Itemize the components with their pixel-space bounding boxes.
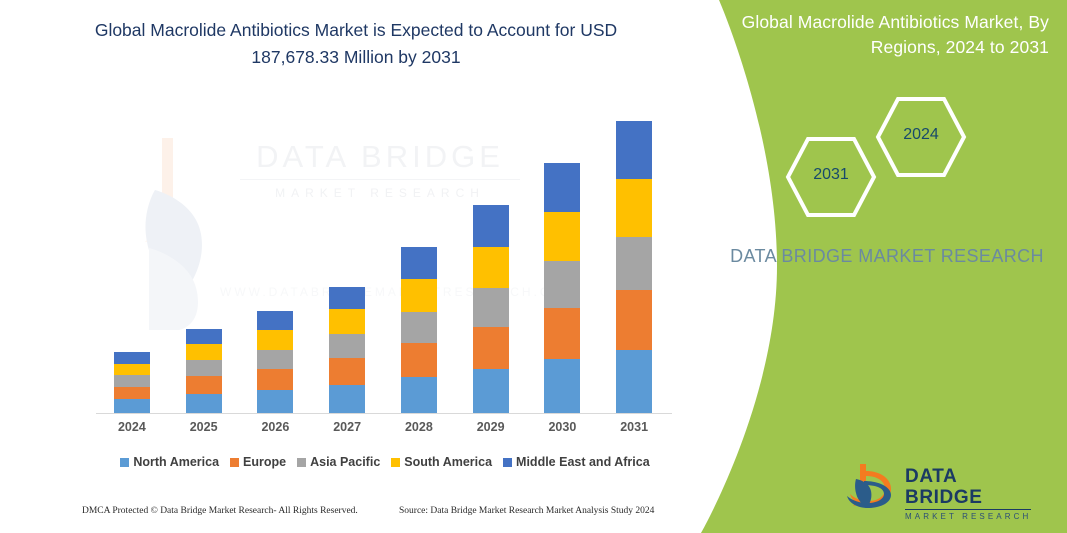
hexagon-2024: 2024 xyxy=(875,96,967,178)
bar-column-2024 xyxy=(114,352,150,413)
legend-label: Asia Pacific xyxy=(310,455,380,469)
bar-segment xyxy=(114,364,150,376)
legend-swatch-icon xyxy=(297,458,306,467)
bar-segment xyxy=(329,385,365,413)
legend-label: Europe xyxy=(243,455,286,469)
bar-segment xyxy=(401,279,437,312)
page-title: Global Macrolide Antibiotics Market is E… xyxy=(56,17,656,71)
bar-segment xyxy=(616,179,652,237)
bar-segment xyxy=(257,330,293,350)
bar-column-2029 xyxy=(473,205,509,413)
legend-swatch-icon xyxy=(391,458,400,467)
logo-title: DATA BRIDGE xyxy=(905,466,1032,508)
bar-segment xyxy=(186,376,222,394)
bar-segment xyxy=(329,287,365,309)
bar-segment xyxy=(616,121,652,179)
bar-segment xyxy=(186,360,222,376)
bar-segment xyxy=(544,261,580,307)
x-axis-tick-2028: 2028 xyxy=(389,420,449,434)
bar-segment xyxy=(114,399,150,413)
legend-swatch-icon xyxy=(120,458,129,467)
x-axis-labels: 20242025202620272028202920302031 xyxy=(96,420,670,434)
bar-segment xyxy=(544,308,580,360)
bar-column-2027 xyxy=(329,287,365,413)
legend-swatch-icon xyxy=(230,458,239,467)
bar-column-2026 xyxy=(257,311,293,413)
green-panel-shape xyxy=(667,0,1067,533)
bar-segment xyxy=(401,377,437,413)
x-axis-tick-2026: 2026 xyxy=(245,420,305,434)
bar-segment xyxy=(257,311,293,330)
footer-copyright: DMCA Protected © Data Bridge Market Rese… xyxy=(82,506,358,516)
legend-swatch-icon xyxy=(503,458,512,467)
legend-item[interactable]: Asia Pacific xyxy=(297,455,380,469)
bar-segment xyxy=(401,247,437,280)
bar-segment xyxy=(544,212,580,262)
chart-legend: North AmericaEuropeAsia PacificSouth Ame… xyxy=(96,455,674,469)
x-axis-tick-2031: 2031 xyxy=(604,420,664,434)
footer: DMCA Protected © Data Bridge Market Rese… xyxy=(0,506,712,526)
bar-segment xyxy=(329,358,365,384)
bar-segment xyxy=(257,350,293,369)
bar-column-2025 xyxy=(186,329,222,413)
hexagon-2024-label: 2024 xyxy=(875,126,967,144)
infographic-root: Global Macrolide Antibiotics Market, By … xyxy=(0,0,1067,533)
legend-label: Middle East and Africa xyxy=(516,455,650,469)
panel-title: Global Macrolide Antibiotics Market, By … xyxy=(729,10,1049,60)
bar-segment xyxy=(401,343,437,377)
bar-segment xyxy=(186,394,222,413)
hexagon-2031-label: 2031 xyxy=(785,166,877,184)
logo-wordmark: DATA BRIDGE MARKET RESEARCH xyxy=(905,466,1032,522)
bar-segment xyxy=(329,334,365,358)
hexagon-outline-icon xyxy=(875,96,967,178)
footer-source: Source: Data Bridge Market Research Mark… xyxy=(399,506,654,516)
x-axis-tick-2030: 2030 xyxy=(532,420,592,434)
chart-area: Global Macrolide Antibiotics Market is E… xyxy=(0,0,712,533)
hexagon-outline-icon xyxy=(785,136,877,218)
legend-label: North America xyxy=(133,455,219,469)
bar-segment xyxy=(616,350,652,413)
stacked-bar-chart xyxy=(96,118,670,413)
logo-tagline: MARKET RESEARCH xyxy=(905,512,1032,522)
bar-column-2031 xyxy=(616,121,652,413)
x-axis-tick-2029: 2029 xyxy=(461,420,521,434)
hexagon-2031: 2031 xyxy=(785,136,877,218)
bar-segment xyxy=(473,327,509,369)
bar-segment xyxy=(544,163,580,211)
bar-segment xyxy=(473,247,509,288)
bar-segment xyxy=(473,205,509,246)
bar-segment xyxy=(473,288,509,327)
bar-segment xyxy=(186,329,222,344)
bar-segment xyxy=(616,290,652,350)
data-bridge-logo-mark-icon xyxy=(847,461,899,509)
legend-item[interactable]: Middle East and Africa xyxy=(503,455,650,469)
panel-brand-text: DATA BRIDGE MARKET RESEARCH xyxy=(722,243,1052,270)
legend-item[interactable]: Europe xyxy=(230,455,286,469)
hexagon-group: 2031 2024 xyxy=(767,96,1067,206)
bar-segment xyxy=(257,369,293,390)
bar-segment xyxy=(114,375,150,387)
bar-column-2030 xyxy=(544,163,580,413)
x-axis-line xyxy=(96,413,672,414)
legend-item[interactable]: North America xyxy=(120,455,219,469)
bar-segment xyxy=(114,352,150,364)
bar-segment xyxy=(114,387,150,400)
logo-divider xyxy=(905,509,1031,510)
bar-segment xyxy=(329,309,365,334)
data-bridge-logo: DATA BRIDGE MARKET RESEARCH xyxy=(847,459,1032,511)
bar-segment xyxy=(257,390,293,413)
x-axis-tick-2027: 2027 xyxy=(317,420,377,434)
bar-segment xyxy=(473,369,509,413)
bar-segment xyxy=(186,344,222,361)
bar-segment xyxy=(401,312,437,344)
bar-segment xyxy=(544,359,580,413)
bar-column-2028 xyxy=(401,247,437,413)
regions-panel: Global Macrolide Antibiotics Market, By … xyxy=(667,0,1067,533)
x-axis-tick-2025: 2025 xyxy=(174,420,234,434)
legend-label: South America xyxy=(404,455,492,469)
bar-segment xyxy=(616,237,652,290)
legend-item[interactable]: South America xyxy=(391,455,492,469)
x-axis-tick-2024: 2024 xyxy=(102,420,162,434)
